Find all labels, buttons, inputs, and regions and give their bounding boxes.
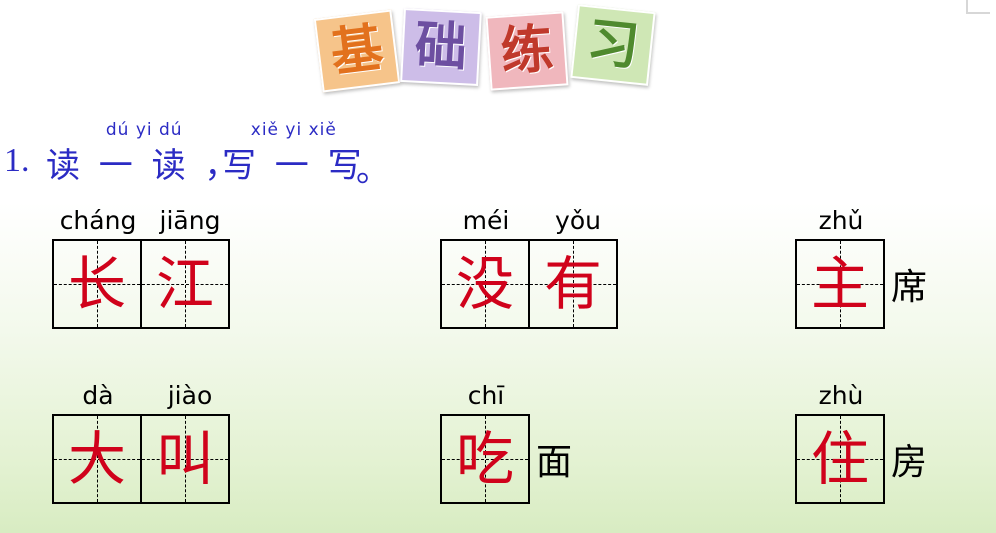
- hanzi-char: 住: [797, 430, 883, 488]
- question-line: 1. dú yi dú 读 一 读 ， xiě yi xiě 写 一 写 。: [4, 120, 524, 182]
- tianzige-box[interactable]: 长: [52, 239, 142, 329]
- tianzige-box[interactable]: 吃: [440, 414, 530, 504]
- tianzige-row: 大 叫: [52, 414, 236, 504]
- title-char-3-text: 习: [573, 15, 652, 74]
- trailing-char: 面: [536, 433, 572, 485]
- tianzige-box[interactable]: 住: [795, 414, 885, 504]
- pinyin-1: yǒu: [532, 206, 624, 235]
- pinyin-row: chī: [440, 380, 572, 410]
- title-char-2: 练: [486, 11, 569, 90]
- tianzige-box[interactable]: 没: [440, 239, 530, 329]
- title-banner: 基 础 练 习: [310, 4, 690, 96]
- pinyin-row: méi yǒu: [440, 205, 624, 235]
- word-item-da-jiao: dà jiào 大 叫: [52, 380, 236, 504]
- tianzige-box[interactable]: 大: [52, 414, 142, 504]
- pinyin-0: dà: [52, 381, 144, 410]
- tianzige-row: 长 江: [52, 239, 236, 329]
- tianzige-box[interactable]: 江: [140, 239, 230, 329]
- pinyin-row: zhǔ: [795, 205, 927, 235]
- title-char-1-text: 础: [403, 19, 480, 75]
- tianzige-box[interactable]: 叫: [140, 414, 230, 504]
- question-group-0-pinyin: dú yi dú: [46, 120, 242, 140]
- question-group-0-hanzi: 读 一 读 ，: [46, 138, 242, 187]
- word-item-zhu-fang: zhù 住 房: [795, 380, 927, 504]
- pinyin-1: jiāng: [144, 206, 236, 235]
- pinyin-row: dà jiào: [52, 380, 236, 410]
- word-item-chang-jiang: cháng jiāng 长 江: [52, 205, 236, 329]
- pinyin-0: méi: [440, 206, 532, 235]
- pinyin-0: chī: [440, 381, 532, 410]
- word-item-zhu-xi: zhǔ 主 席: [795, 205, 927, 329]
- question-group-0: dú yi dú 读 一 读 ，: [46, 120, 242, 187]
- tianzige-row: 主 席: [795, 239, 927, 329]
- trailing-char: 席: [891, 258, 927, 310]
- hanzi-char: 吃: [442, 430, 528, 488]
- hanzi-char: 有: [530, 255, 616, 313]
- pinyin-0: zhǔ: [795, 206, 887, 235]
- tianzige-row: 吃 面: [440, 414, 572, 504]
- title-char-1: 础: [400, 8, 482, 86]
- question-group-1-hanzi: 写 一 写: [222, 138, 366, 187]
- hanzi-char: 主: [797, 255, 883, 313]
- pinyin-1: jiào: [144, 381, 236, 410]
- word-item-chi-mian: chī 吃 面: [440, 380, 572, 504]
- pinyin-row: cháng jiāng: [52, 205, 236, 235]
- question-number: 1.: [4, 142, 30, 180]
- corner-mark: [966, 0, 990, 14]
- trailing-char: 房: [891, 433, 927, 485]
- hanzi-char: 江: [142, 255, 228, 313]
- pinyin-0: cháng: [52, 206, 144, 235]
- title-char-3: 习: [570, 4, 655, 86]
- tianzige-row: 住 房: [795, 414, 927, 504]
- question-group-1-pinyin: xiě yi xiě: [222, 120, 366, 140]
- title-char-0: 基: [314, 10, 400, 93]
- word-item-mei-you: méi yǒu 没 有: [440, 205, 624, 329]
- tianzige-box[interactable]: 主: [795, 239, 885, 329]
- hanzi-char: 长: [54, 255, 140, 313]
- hanzi-char: 叫: [142, 430, 228, 488]
- question-punctuation: 。: [356, 142, 390, 191]
- tianzige-box[interactable]: 有: [528, 239, 618, 329]
- question-group-1: xiě yi xiě 写 一 写: [222, 120, 366, 187]
- title-char-2-text: 练: [488, 22, 565, 79]
- pinyin-0: zhù: [795, 381, 887, 410]
- tianzige-row: 没 有: [440, 239, 624, 329]
- pinyin-row: zhù: [795, 380, 927, 410]
- hanzi-char: 没: [442, 255, 528, 313]
- hanzi-char: 大: [54, 430, 140, 488]
- title-char-0-text: 基: [317, 21, 397, 82]
